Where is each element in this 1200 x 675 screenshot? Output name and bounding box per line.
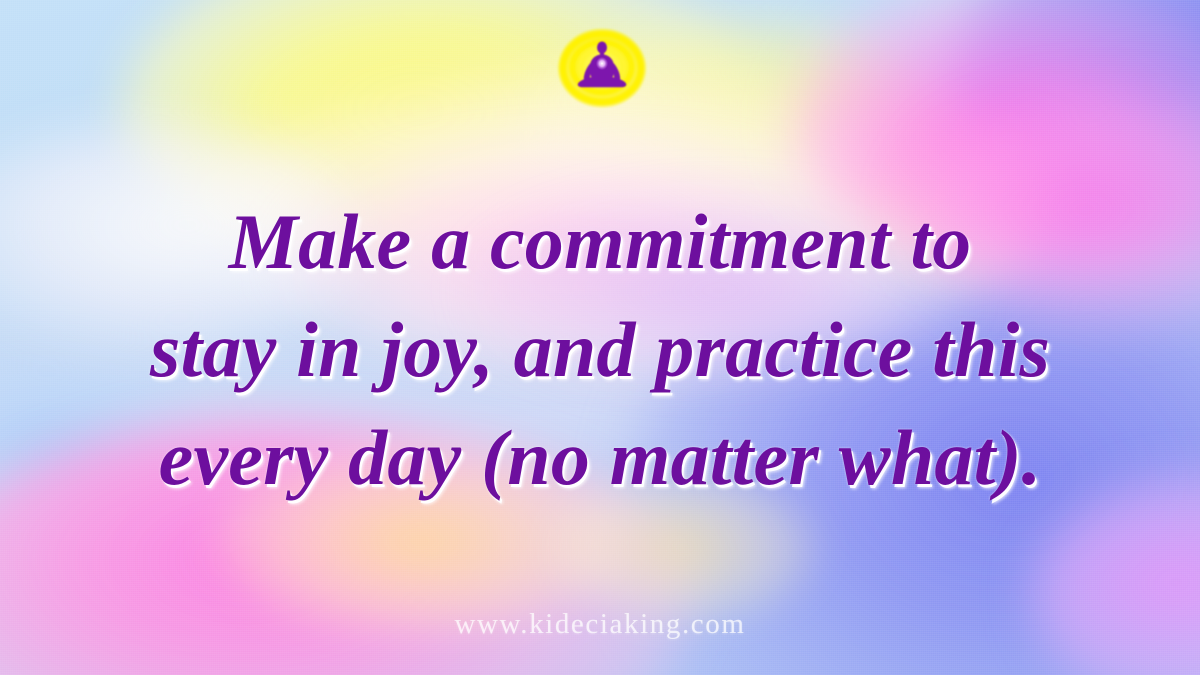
quote-text-block: Make a commitment to stay in joy, and pr… xyxy=(0,188,1200,512)
quote-line-3: every day (no matter what). xyxy=(24,404,1176,512)
quote-line-2: stay in joy, and practice this xyxy=(24,296,1176,404)
quote-poster: Make a commitment to stay in joy, and pr… xyxy=(0,0,1200,675)
website-watermark: www.kideciaking.com xyxy=(0,608,1200,641)
logo-heart-glow xyxy=(596,57,608,70)
meditating-figure-logo xyxy=(556,22,648,114)
quote-line-1: Make a commitment to xyxy=(24,188,1176,296)
